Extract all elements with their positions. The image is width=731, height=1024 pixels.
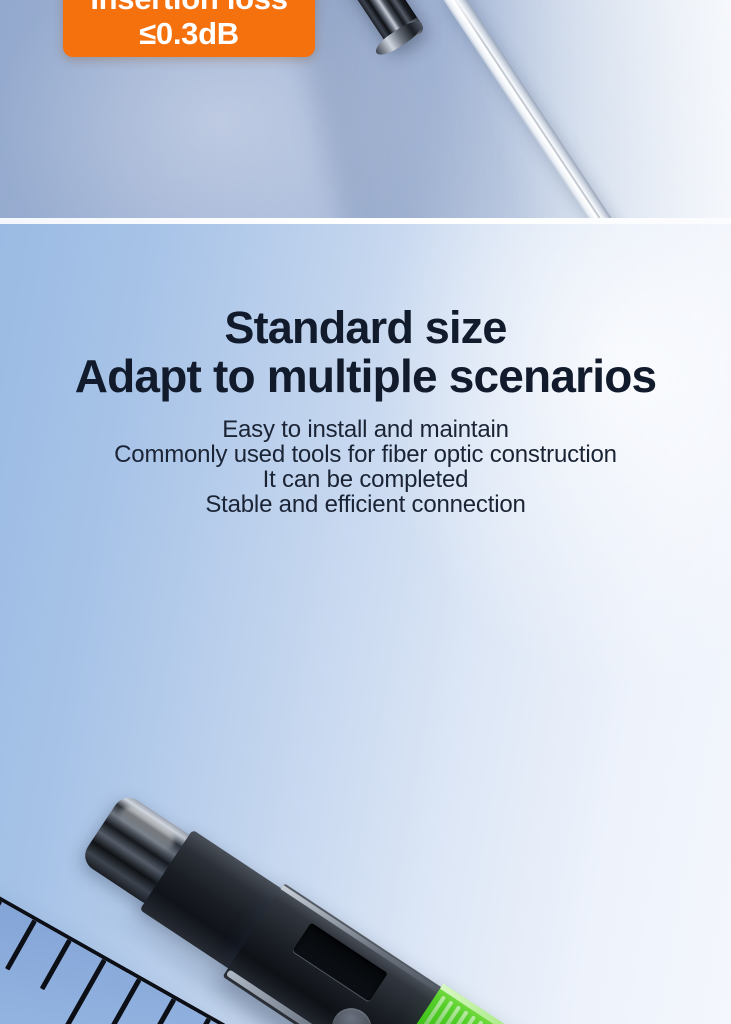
fiber-cable	[438, 0, 637, 218]
ruler-tick	[144, 998, 176, 1024]
subtitle-line-4: Stable and efficient connection	[0, 492, 731, 517]
ruler-tick	[62, 959, 107, 1024]
heading-line-1: Standard size	[0, 304, 731, 352]
badge-value: ≤0.3dB	[139, 16, 239, 52]
ruler-tick	[0, 900, 2, 951]
ruler-tick	[40, 939, 72, 990]
subtitle-line-1: Easy to install and maintain	[0, 417, 731, 442]
ruler-tick	[179, 1018, 211, 1024]
cable-core-line	[446, 0, 630, 218]
subtitle-line-2: Commonly used tools for fiber optic cons…	[0, 442, 731, 467]
green-body-rib	[423, 1020, 484, 1024]
main-product-panel: Standard size Adapt to multiple scenario…	[0, 224, 731, 1024]
heading-line-2: Adapt to multiple scenarios	[0, 352, 731, 400]
subtitle-line-3: It can be completed	[0, 467, 731, 492]
ruler-tick	[109, 978, 141, 1024]
marketing-text-block: Standard size Adapt to multiple scenario…	[0, 304, 731, 517]
insertion-loss-badge: Insertion loss ≤0.3dB	[63, 0, 315, 57]
ruler-tick	[5, 919, 37, 970]
product-marketing-image: Insertion loss ≤0.3dB Standard size Adap…	[0, 0, 731, 1024]
badge-title: Insertion loss	[90, 0, 287, 16]
